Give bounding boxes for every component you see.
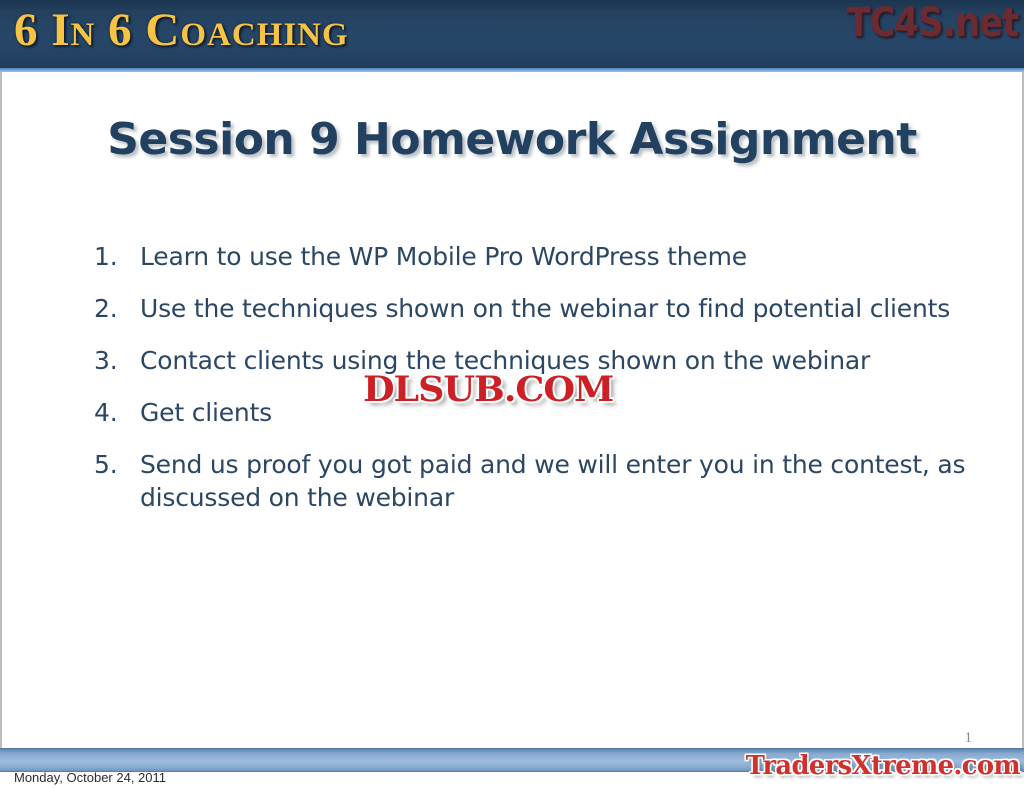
list-item: 1. Learn to use the WP Mobile Pro WordPr… [94, 240, 974, 273]
list-item-number: 2. [94, 292, 140, 325]
list-item-text: Learn to use the WP Mobile Pro WordPress… [140, 240, 974, 273]
list-item-text: Use the techniques shown on the webinar … [140, 292, 974, 325]
list-item-text: Send us proof you got paid and we will e… [140, 448, 974, 514]
tc4s-logo: TC4S.net [846, 2, 1018, 44]
tradersxtreme-logo: TradersXtreme.com [746, 753, 1020, 780]
list-item-number: 5. [94, 448, 140, 481]
slide-body: Session 9 Homework Assignment 1. Learn t… [0, 72, 1024, 748]
page-number: 1 [965, 730, 973, 747]
list-item: 2. Use the techniques shown on the webin… [94, 292, 974, 325]
list-item-number: 3. [94, 344, 140, 377]
slide-title: Session 9 Homework Assignment [2, 114, 1022, 165]
presentation-slide: 6 In 6 Coaching TC4S.net Session 9 Homew… [0, 0, 1024, 788]
list-item-number: 1. [94, 240, 140, 273]
list-item: 5. Send us proof you got paid and we wil… [94, 448, 974, 514]
footer-date: Monday, October 24, 2011 [14, 770, 166, 785]
header-banner: 6 In 6 Coaching TC4S.net [0, 0, 1024, 72]
brand-title: 6 In 6 Coaching [14, 7, 349, 54]
list-item-number: 4. [94, 396, 140, 429]
dlsub-watermark: DLSUB.COM [363, 372, 613, 407]
